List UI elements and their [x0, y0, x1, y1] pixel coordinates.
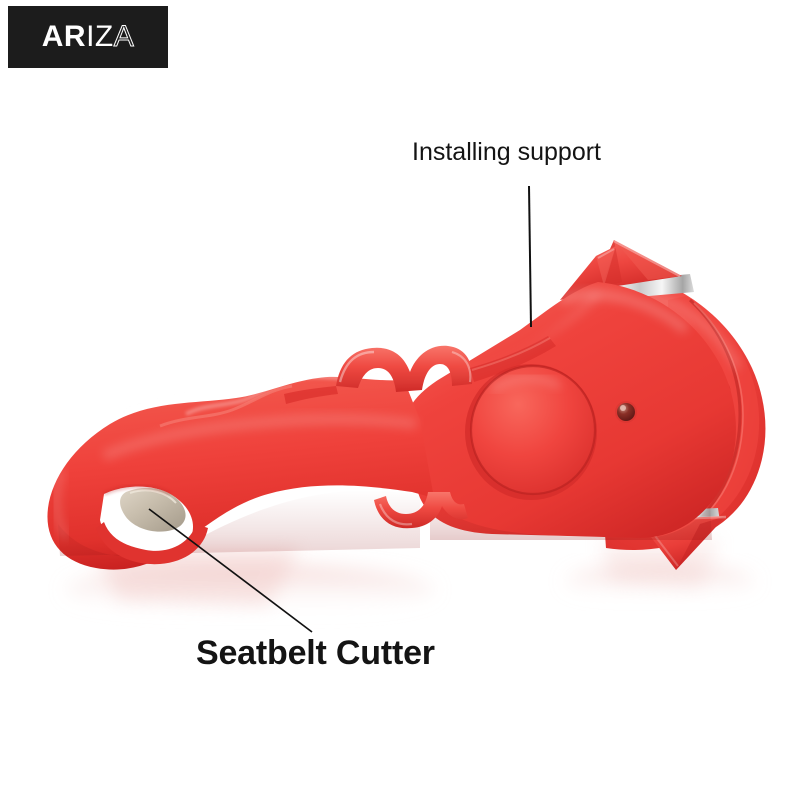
wordmark-part-outline: A: [114, 22, 135, 52]
wordmark-part-solid: AR: [42, 22, 86, 52]
led-indicator: [615, 401, 637, 423]
product-illustration: [0, 0, 800, 800]
callout-label-installing-support: Installing support: [412, 140, 601, 165]
wordmark-part-thin: IZ: [86, 22, 114, 52]
callout-label-seatbelt-cutter: Seatbelt Cutter: [196, 636, 435, 670]
brand-logo: ARIZA: [8, 6, 168, 68]
product-image-canvas: ARIZA Installing support Seatbelt Cutter: [0, 0, 800, 800]
press-button[interactable]: [465, 364, 597, 500]
brand-wordmark: ARIZA: [42, 22, 135, 52]
